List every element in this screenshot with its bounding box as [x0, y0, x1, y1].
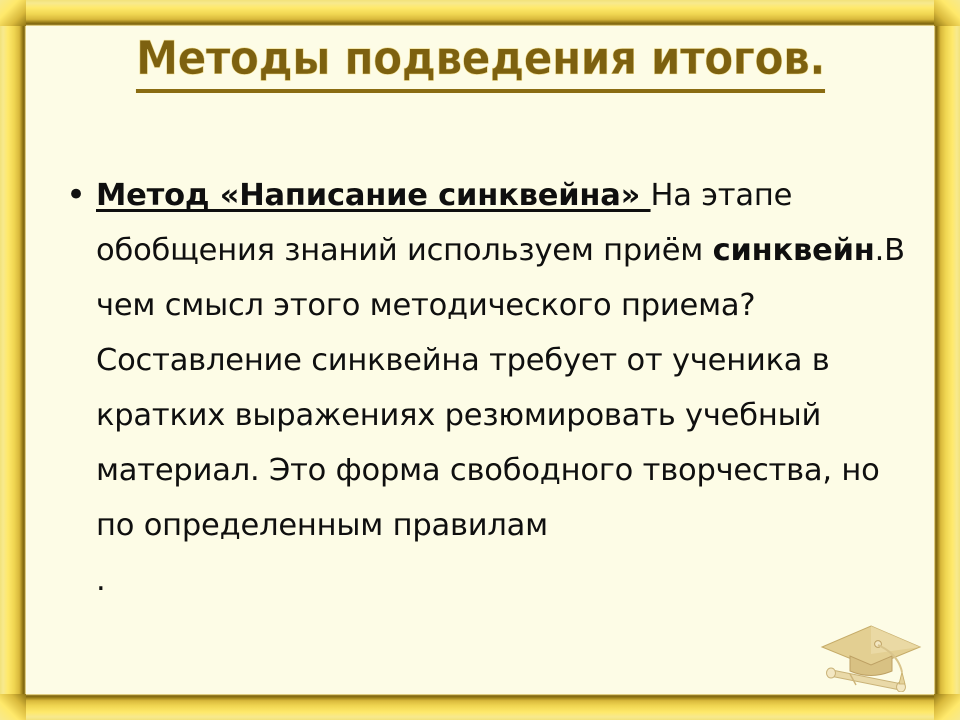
slide-frame-corner-top-left [0, 0, 26, 26]
slide-frame-corner-bottom-left [0, 694, 26, 720]
slide-canvas: Методы подведения итогов. • Метод «Напис… [26, 26, 934, 694]
bullet-list-item: • Метод «Написание синквейна» На этапе о… [38, 168, 924, 553]
slide-title: Методы подведения итогов. [135, 34, 824, 93]
slide-frame-left [0, 0, 26, 720]
slide-title-area: Методы подведения итогов. [26, 34, 934, 93]
slide-body: • Метод «Написание синквейна» На этапе о… [38, 168, 924, 608]
slide-frame-right [934, 0, 960, 720]
presentation-slide: Методы подведения итогов. • Метод «Напис… [0, 0, 960, 720]
graduation-cap-icon [816, 614, 926, 692]
slide-frame-corner-top-right [934, 0, 960, 26]
slide-frame-bottom [0, 694, 960, 720]
bullet-marker-icon: • [38, 168, 96, 223]
bullet-trailing-period: . [38, 553, 924, 608]
bullet-emphasis-word: синквейн [713, 233, 875, 268]
slide-frame-corner-bottom-right [934, 694, 960, 720]
slide-frame-top [0, 0, 960, 26]
bullet-lead-phrase: Метод «Написание синквейна» [96, 178, 651, 213]
bullet-body-part-2: .В чем смысл этого методического приема?… [96, 233, 905, 543]
bullet-item-text: Метод «Написание синквейна» На этапе обо… [96, 168, 924, 553]
